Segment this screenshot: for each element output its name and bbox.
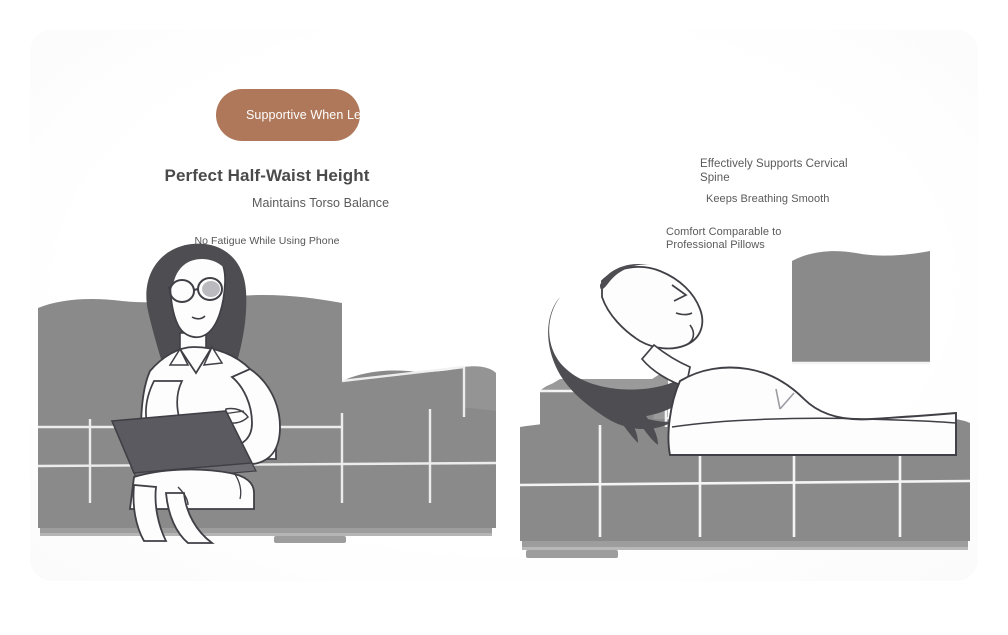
page-canvas: Supportive When Leaning Perfect Half-Wai… xyxy=(0,0,1008,635)
badge-label: Supportive When Leaning xyxy=(246,89,392,141)
feature-card: Supportive When Leaning Perfect Half-Wai… xyxy=(30,30,978,581)
left-subhead: Maintains Torso Balance xyxy=(252,196,402,210)
illustration-woman-sitting-with-laptop xyxy=(30,241,504,581)
benefit-item-2: Keeps Breathing Smooth xyxy=(706,193,866,206)
panel-supportive-when-leaning: Supportive When Leaning Perfect Half-Wai… xyxy=(30,30,504,581)
left-headline: Perfect Half-Waist Height xyxy=(30,166,504,186)
benefit-item-1: Effectively Supports Cervical Spine xyxy=(700,158,860,185)
illustration-person-lying-on-sofa xyxy=(504,241,978,581)
panel-comfortable-when-sleeping: Comfortable When Sleeping Effectively Su… xyxy=(504,30,978,581)
